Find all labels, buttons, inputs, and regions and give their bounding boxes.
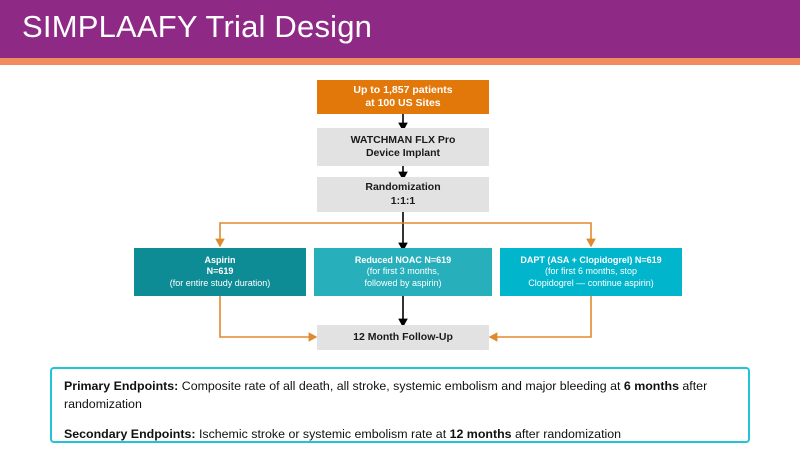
- enrollment-line-1: Up to 1,857 patients: [353, 84, 452, 97]
- secondary-endpoints-text-before: Ischemic stroke or systemic embolism rat…: [196, 427, 450, 441]
- secondary-endpoints-highlight: 12 months: [450, 427, 512, 441]
- arm-aspirin-title: Aspirin: [204, 255, 235, 267]
- secondary-endpoints-label: Secondary Endpoints:: [64, 427, 196, 441]
- node-arm-aspirin: Aspirin N=619 (for entire study duration…: [134, 248, 306, 296]
- endpoints-panel: Primary Endpoints: Composite rate of all…: [50, 367, 750, 443]
- node-randomization: Randomization 1:1:1: [317, 177, 489, 212]
- secondary-endpoints-text-after: after randomization: [512, 427, 622, 441]
- enrollment-line-2: at 100 US Sites: [365, 97, 440, 110]
- arm-aspirin-detail-1: (for entire study duration): [170, 278, 271, 290]
- randomization-line-1: Randomization: [365, 181, 440, 194]
- node-device-implant: WATCHMAN FLX Pro Device Implant: [317, 128, 489, 166]
- device-line-1: WATCHMAN FLX Pro: [351, 134, 456, 147]
- secondary-endpoints-line: Secondary Endpoints: Ischemic stroke or …: [64, 426, 736, 444]
- arm-noac-title: Reduced NOAC N=619: [355, 255, 451, 267]
- primary-endpoints-line: Primary Endpoints: Composite rate of all…: [64, 378, 736, 413]
- header-accent-stripe: [0, 58, 800, 65]
- node-enrollment: Up to 1,857 patients at 100 US Sites: [317, 80, 489, 114]
- arm-dapt-detail-1: (for first 6 months, stop: [545, 266, 637, 278]
- arm-aspirin-n: N=619: [207, 266, 234, 278]
- arm-noac-detail-2: followed by aspirin): [364, 278, 441, 290]
- device-line-2: Device Implant: [366, 147, 440, 160]
- node-arm-dapt: DAPT (ASA + Clopidogrel) N=619 (for firs…: [500, 248, 682, 296]
- arm-dapt-detail-2: Clopidogrel — continue aspirin): [528, 278, 654, 290]
- arm-dapt-title: DAPT (ASA + Clopidogrel) N=619: [520, 255, 661, 267]
- title-banner: SIMPLAAFY Trial Design: [0, 0, 800, 58]
- primary-endpoints-label: Primary Endpoints:: [64, 379, 178, 393]
- trial-design-flowchart: Up to 1,857 patients at 100 US Sites WAT…: [0, 65, 800, 365]
- primary-endpoints-text-before: Composite rate of all death, all stroke,…: [178, 379, 624, 393]
- follow-up-label: 12 Month Follow-Up: [353, 331, 453, 344]
- randomization-ratio: 1:1:1: [391, 195, 416, 208]
- node-follow-up: 12 Month Follow-Up: [317, 325, 489, 350]
- node-arm-reduced-noac: Reduced NOAC N=619 (for first 3 months, …: [314, 248, 492, 296]
- arm-noac-detail-1: (for first 3 months,: [367, 266, 440, 278]
- page-title: SIMPLAAFY Trial Design: [22, 9, 372, 45]
- primary-endpoints-highlight: 6 months: [624, 379, 679, 393]
